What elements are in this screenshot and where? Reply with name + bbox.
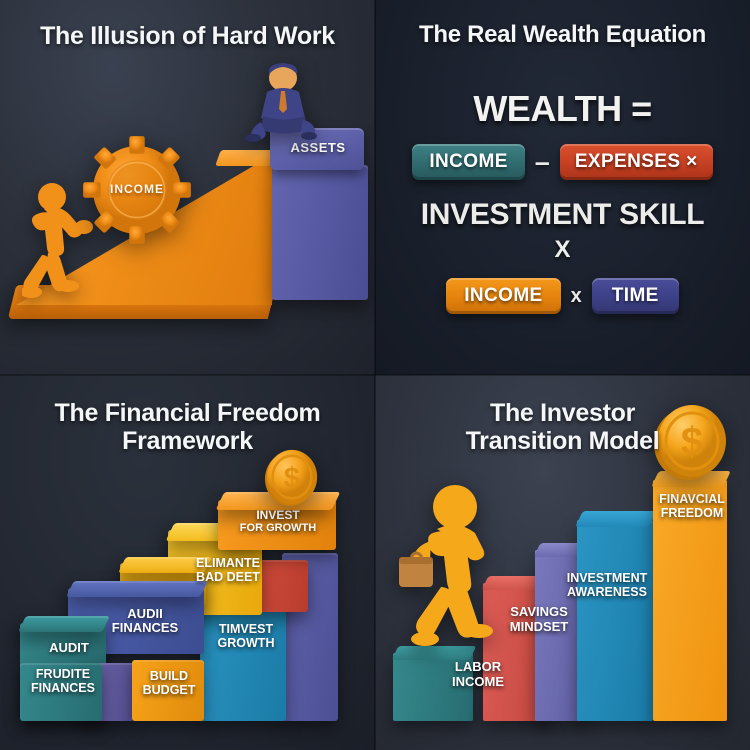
label-invest-for-growth: INVESTFOR GROWTH xyxy=(226,509,330,534)
label-investment-awareness: INVESTMENTAWARENESS xyxy=(555,571,659,599)
dollar-coin-icon-left: $ xyxy=(263,446,321,508)
gear-income-label: INCOME xyxy=(82,182,192,196)
label-build-budget: BUILDBUDGET xyxy=(134,670,204,698)
equation-row-income-times-time: INCOME x TIME xyxy=(375,278,750,314)
panel-divider-horizontal xyxy=(0,374,750,376)
equation-wealth-line: WEALTH = xyxy=(375,88,750,130)
label-timvest-growth: TIMVESTGROWTH xyxy=(202,623,290,651)
label-savings-mindset: SAVINGSMINDSET xyxy=(497,605,581,634)
panel-title-bottom-left: The Financial Freedom Framework xyxy=(0,399,375,455)
badge-income-teal[interactable]: INCOME xyxy=(412,144,524,180)
panel-real-wealth-equation: The Real Wealth Equation WEALTH = INCOME… xyxy=(375,0,750,375)
panel-title-top-right: The Real Wealth Equation xyxy=(375,22,750,49)
bar-investment-awareness-top xyxy=(575,511,657,527)
panel-title-bottom-right-line2: Transition Model xyxy=(385,427,740,455)
badge-expenses[interactable]: EXPENSES × xyxy=(560,144,713,180)
label-frudite-finances: FRUDITEFINANCES xyxy=(20,668,106,696)
panel-title-bottom-right-line1: The Investor xyxy=(385,399,740,427)
minus-sign: – xyxy=(535,147,550,178)
svg-text:$: $ xyxy=(284,463,300,495)
label-eliminate-bad-debt: ELIMANTEBAD DEET xyxy=(176,557,280,585)
panel-title-top-left: The Illusion of Hard Work xyxy=(0,22,375,50)
label-financial-freedom: FINAVCIALFREEDOM xyxy=(657,492,727,520)
label-audit: AUDIT xyxy=(32,641,106,655)
badge-income-orange[interactable]: INCOME xyxy=(446,278,560,314)
panel-investor-transition-model: The Investor Transition Model xyxy=(375,375,750,750)
panel-illusion-of-hard-work: The Illusion of Hard Work ASSETS xyxy=(0,0,375,375)
label-labor-income: LABORINCOME xyxy=(435,660,521,689)
equation-row-income-minus-expenses: INCOME – EXPENSES × xyxy=(375,144,750,180)
multiply-sign-small: x xyxy=(571,285,582,308)
ramp-scene: ASSETS xyxy=(0,0,375,375)
panel-title-bottom-left-line2: Framework xyxy=(10,427,365,455)
businessman-walking-with-briefcase-icon xyxy=(397,479,513,654)
panel-title-bottom-right: The Investor Transition Model xyxy=(375,399,750,455)
infographic-grid: The Illusion of Hard Work ASSETS xyxy=(0,0,750,750)
businessman-sitting-icon xyxy=(243,60,321,145)
panel-title-bottom-left-line1: The Financial Freedom xyxy=(10,399,365,427)
label-audii-finances: AUDIIFINANCES xyxy=(90,607,200,636)
multiply-sign-big: X xyxy=(375,236,750,264)
equation-investment-skill-line: INVESTMENT SKILL xyxy=(375,198,750,232)
bar-investment-awareness[interactable] xyxy=(577,520,653,721)
assets-pedestal-block xyxy=(272,165,368,300)
panel-financial-freedom-framework: The Financial Freedom Framework xyxy=(0,375,375,750)
badge-time[interactable]: TIME xyxy=(592,278,679,314)
